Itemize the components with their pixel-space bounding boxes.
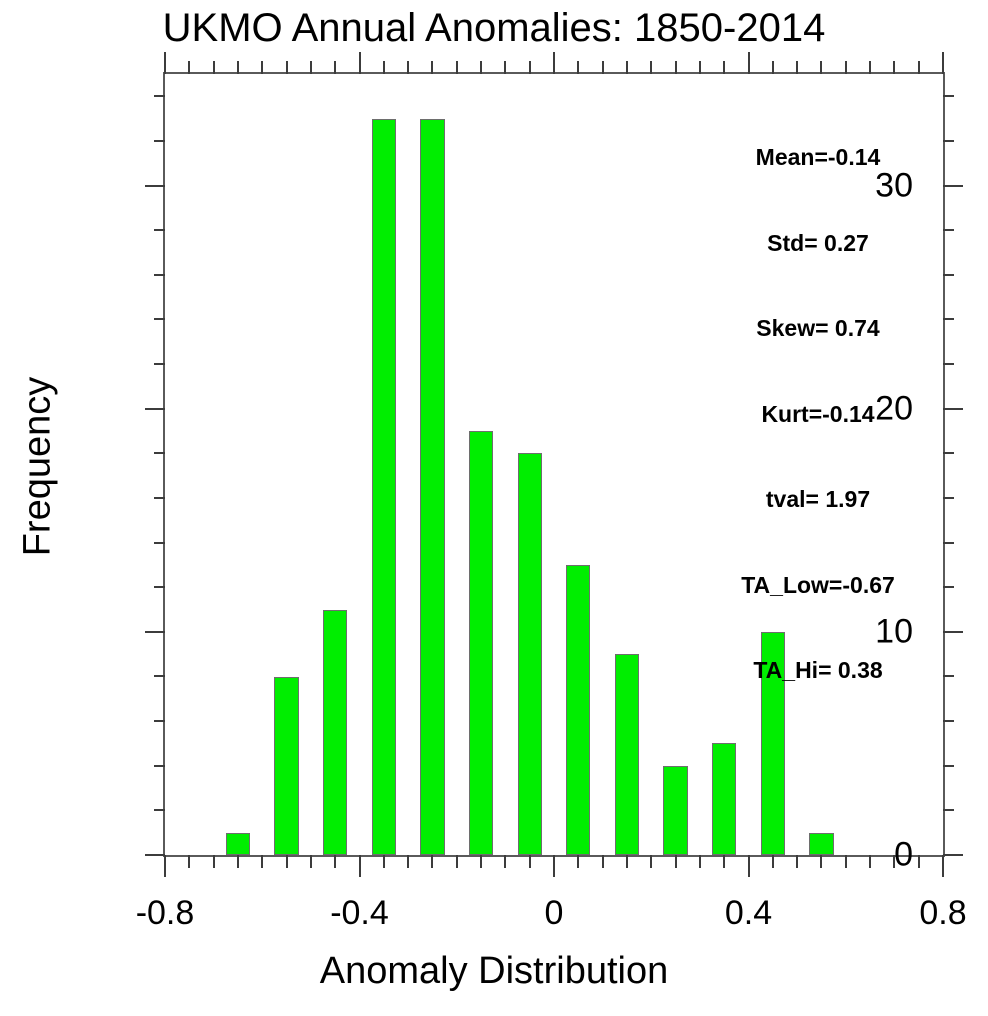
y-axis-minor-tick [154, 140, 165, 142]
x-axis-minor-tick [650, 855, 652, 868]
x-axis-tick-label: -0.8 [136, 894, 195, 933]
x-axis-minor-tick [334, 61, 336, 74]
x-axis-minor-tick [796, 61, 798, 74]
x-axis-minor-tick [504, 855, 506, 868]
x-axis-minor-tick [456, 61, 458, 74]
x-axis-minor-tick [820, 855, 822, 868]
y-axis-minor-tick [154, 363, 165, 365]
y-axis-major-tick [943, 854, 963, 856]
x-axis-minor-tick [431, 61, 433, 74]
x-axis-minor-tick [383, 61, 385, 74]
y-axis-minor-tick [154, 452, 165, 454]
x-axis-minor-tick [602, 61, 604, 74]
y-axis-minor-tick [154, 809, 165, 811]
x-axis-minor-tick [602, 855, 604, 868]
x-axis-minor-tick [918, 855, 920, 868]
y-axis-minor-tick [154, 95, 165, 97]
x-axis-minor-tick [310, 61, 312, 74]
x-axis-minor-tick [577, 855, 579, 868]
histogram-bar [518, 453, 542, 855]
x-axis-minor-tick [626, 855, 628, 868]
y-axis-minor-tick [943, 229, 954, 231]
y-axis-major-tick [145, 631, 165, 633]
histogram-bar [469, 431, 493, 855]
x-axis-minor-tick [213, 855, 215, 868]
x-axis-minor-tick [286, 855, 288, 868]
y-axis-minor-tick [154, 542, 165, 544]
x-axis-title: Anomaly Distribution [0, 950, 988, 993]
stat-tval: tval= 1.97 [700, 485, 936, 514]
histogram-bar [420, 119, 444, 855]
x-axis-minor-tick [723, 855, 725, 868]
x-axis-major-tick [164, 52, 166, 74]
histogram-bar [274, 677, 298, 856]
y-axis-major-tick [145, 185, 165, 187]
x-axis-minor-tick [796, 855, 798, 868]
stat-mean: Mean=-0.14 [700, 143, 936, 172]
y-axis-minor-tick [943, 765, 954, 767]
y-axis-minor-tick [154, 765, 165, 767]
y-axis-minor-tick [943, 497, 954, 499]
x-axis-major-tick [748, 52, 750, 74]
stat-ta-low: TA_Low=-0.67 [700, 571, 936, 600]
x-axis-major-tick [164, 855, 166, 877]
x-axis-minor-tick [893, 61, 895, 74]
x-axis-minor-tick [407, 61, 409, 74]
y-axis-minor-tick [943, 720, 954, 722]
y-axis-minor-tick [154, 318, 165, 320]
x-axis-minor-tick [334, 855, 336, 868]
x-axis-minor-tick [650, 61, 652, 74]
y-axis-minor-tick [943, 318, 954, 320]
x-axis-tick-label: 0.8 [919, 894, 966, 933]
x-axis-major-tick [748, 855, 750, 877]
x-axis-minor-tick [480, 61, 482, 74]
histogram-bar [226, 833, 250, 855]
y-axis-minor-tick [154, 229, 165, 231]
x-axis-minor-tick [626, 61, 628, 74]
stat-skew: Skew= 0.74 [700, 314, 936, 343]
x-axis-minor-tick [675, 855, 677, 868]
x-axis-minor-tick [407, 855, 409, 868]
chart-page: UKMO Annual Anomalies: 1850-2014 0102030… [0, 0, 988, 1016]
x-axis-minor-tick [772, 61, 774, 74]
y-axis-title: Frequency [17, 217, 60, 717]
y-axis-major-tick [145, 408, 165, 410]
histogram-bar [566, 565, 590, 855]
y-axis-minor-tick [943, 542, 954, 544]
y-axis-minor-tick [154, 274, 165, 276]
x-axis-minor-tick [188, 61, 190, 74]
x-axis-major-tick [942, 52, 944, 74]
statistics-annotation: Mean=-0.14 Std= 0.27 Skew= 0.74 Kurt=-0.… [700, 86, 936, 742]
y-axis-minor-tick [943, 586, 954, 588]
x-axis-minor-tick [577, 61, 579, 74]
x-axis-major-tick [553, 52, 555, 74]
x-axis-minor-tick [237, 855, 239, 868]
x-axis-minor-tick [918, 61, 920, 74]
x-axis-minor-tick [504, 61, 506, 74]
page-title: UKMO Annual Anomalies: 1850-2014 [0, 6, 988, 51]
x-axis-minor-tick [480, 855, 482, 868]
y-axis-major-tick [943, 185, 963, 187]
histogram-bar [809, 833, 833, 855]
x-axis-minor-tick [431, 855, 433, 868]
y-axis-minor-tick [154, 675, 165, 677]
x-axis-minor-tick [261, 855, 263, 868]
histogram-bar [663, 766, 687, 855]
x-axis-minor-tick [845, 855, 847, 868]
x-axis-minor-tick [723, 61, 725, 74]
y-axis-minor-tick [943, 809, 954, 811]
histogram-bar [712, 743, 736, 855]
x-axis-minor-tick [261, 61, 263, 74]
y-axis-major-tick [943, 408, 963, 410]
x-axis-minor-tick [699, 61, 701, 74]
x-axis-tick-label: 0 [545, 894, 564, 933]
stat-kurt: Kurt=-0.14 [700, 400, 936, 429]
x-axis-minor-tick [286, 61, 288, 74]
x-axis-minor-tick [383, 855, 385, 868]
x-axis-major-tick [359, 52, 361, 74]
histogram-bar [323, 610, 347, 855]
x-axis-minor-tick [188, 855, 190, 868]
x-axis-tick-label: 0.4 [725, 894, 772, 933]
x-axis-minor-tick [845, 61, 847, 74]
y-axis-minor-tick [943, 363, 954, 365]
y-axis-major-tick [943, 631, 963, 633]
stat-ta-hi: TA_Hi= 0.38 [700, 656, 936, 685]
histogram-bar [615, 654, 639, 855]
x-axis-major-tick [942, 855, 944, 877]
y-axis-major-tick [145, 854, 165, 856]
y-axis-minor-tick [154, 720, 165, 722]
y-axis-minor-tick [943, 452, 954, 454]
x-axis-minor-tick [529, 61, 531, 74]
y-axis-minor-tick [943, 675, 954, 677]
y-axis-minor-tick [943, 95, 954, 97]
x-axis-minor-tick [869, 855, 871, 868]
stat-std: Std= 0.27 [700, 229, 936, 258]
x-axis-minor-tick [820, 61, 822, 74]
y-axis-tick-label: 0 [894, 836, 913, 875]
x-axis-minor-tick [772, 855, 774, 868]
y-axis-minor-tick [154, 497, 165, 499]
x-axis-minor-tick [310, 855, 312, 868]
x-axis-minor-tick [529, 855, 531, 868]
histogram-bar [372, 119, 396, 855]
x-axis-minor-tick [456, 855, 458, 868]
x-axis-major-tick [359, 855, 361, 877]
y-axis-minor-tick [154, 586, 165, 588]
y-axis-minor-tick [943, 140, 954, 142]
x-axis-minor-tick [675, 61, 677, 74]
x-axis-minor-tick [893, 855, 895, 868]
x-axis-major-tick [553, 855, 555, 877]
x-axis-minor-tick [699, 855, 701, 868]
x-axis-minor-tick [213, 61, 215, 74]
y-axis-minor-tick [943, 274, 954, 276]
x-axis-minor-tick [237, 61, 239, 74]
x-axis-tick-label: -0.4 [330, 894, 389, 933]
x-axis-minor-tick [869, 61, 871, 74]
